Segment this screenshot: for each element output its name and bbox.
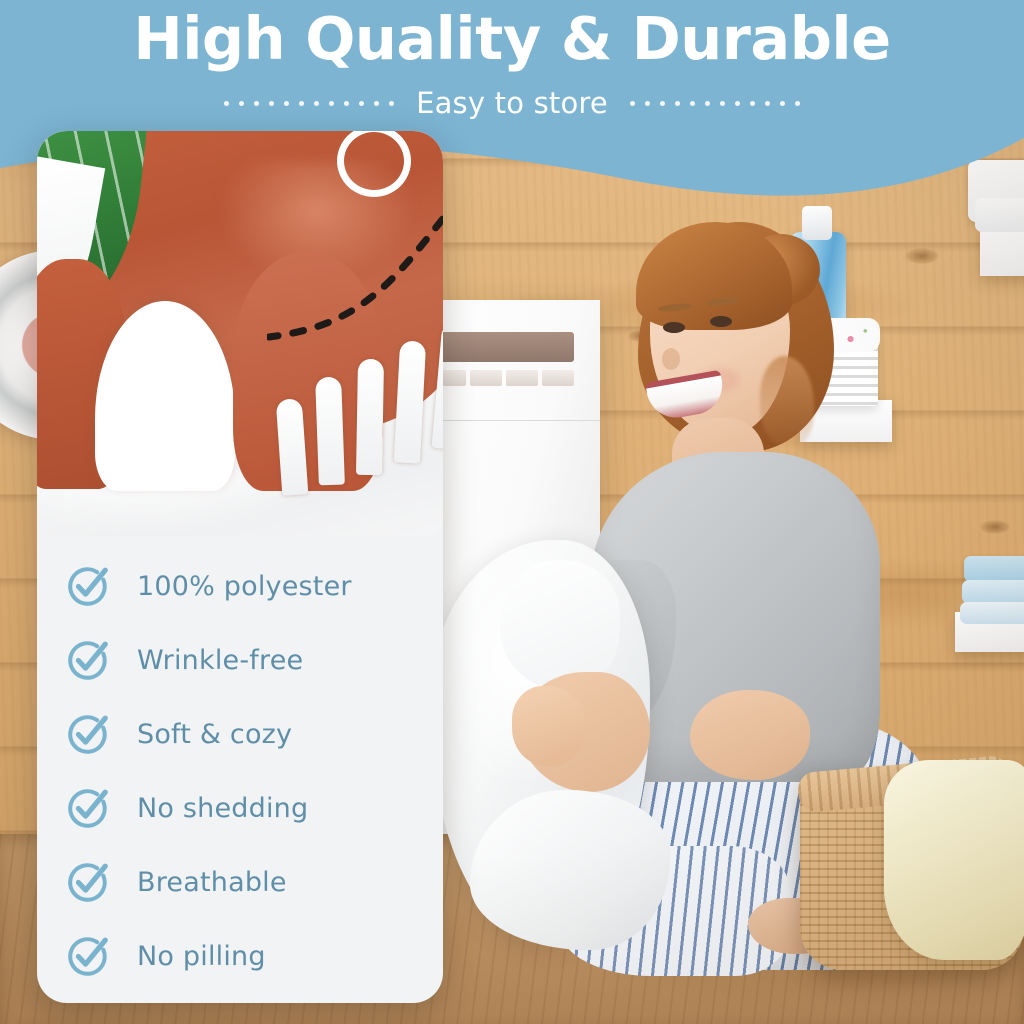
washer-button: [506, 370, 538, 386]
rule-dot: [329, 101, 334, 106]
check-circle-icon: [65, 933, 111, 979]
rule-dot: [795, 101, 800, 106]
rule-dot: [224, 101, 229, 106]
check-circle-icon: [65, 637, 111, 683]
page-subtitle: Easy to store: [416, 86, 608, 120]
feature-item[interactable]: Breathable: [37, 845, 443, 919]
feature-item[interactable]: Wrinkle-free: [37, 623, 443, 697]
feature-label: Soft & cozy: [137, 719, 292, 750]
rule-dot: [284, 101, 289, 106]
infographic-canvas: High Quality & Durable Easy to store: [0, 0, 1024, 1024]
feature-card: 100% polyester Wrinkle-free Soft & cozy: [37, 131, 443, 1003]
subtitle-row: Easy to store: [0, 86, 1024, 120]
rule-dot: [389, 101, 394, 106]
washer-button: [470, 370, 502, 386]
check-circle-icon: [65, 711, 111, 757]
washer-seam: [420, 420, 600, 421]
feature-label: Breathable: [137, 867, 287, 898]
rule-dot: [735, 101, 740, 106]
feature-label: 100% polyester: [137, 571, 352, 602]
blue-towel-stack: [962, 580, 1024, 604]
rule-dot: [269, 101, 274, 106]
rule-dot: [239, 101, 244, 106]
detergent-cap: [802, 206, 832, 240]
fringe-strip: [276, 398, 309, 496]
woman-eye: [663, 322, 685, 333]
product-closeup-photo: [37, 131, 443, 536]
wood-knot: [980, 520, 1010, 534]
blue-towel-stack: [960, 602, 1024, 624]
feature-list: 100% polyester Wrinkle-free Soft & cozy: [37, 549, 443, 993]
blue-towel-stack: [964, 556, 1024, 582]
dotted-rule-right: [630, 101, 800, 106]
woman-nose: [662, 348, 680, 370]
wood-knot: [905, 248, 939, 264]
fringe-strip: [356, 359, 384, 475]
cream-towel: [884, 760, 1024, 960]
rule-dot: [780, 101, 785, 106]
page-title: High Quality & Durable: [0, 8, 1024, 70]
check-circle-icon: [65, 859, 111, 905]
rule-dot: [314, 101, 319, 106]
feature-label: No pilling: [137, 941, 266, 972]
dotted-rule-left: [224, 101, 394, 106]
woman-eye: [710, 316, 732, 327]
washer-display-panel: [434, 332, 574, 362]
feature-label: Wrinkle-free: [137, 645, 303, 676]
rule-dot: [374, 101, 379, 106]
rule-dot: [765, 101, 770, 106]
fringe-strip: [394, 340, 426, 463]
woman-arm: [690, 690, 810, 780]
check-circle-icon: [65, 563, 111, 609]
woman-hand: [512, 686, 586, 766]
feature-item[interactable]: Soft & cozy: [37, 697, 443, 771]
check-circle-icon: [65, 785, 111, 831]
white-blanket-fold: [500, 560, 620, 690]
rule-dot: [705, 101, 710, 106]
rule-dot: [690, 101, 695, 106]
feature-item[interactable]: No shedding: [37, 771, 443, 845]
white-blanket-pile: [470, 790, 670, 950]
washer-button-row: [434, 370, 574, 386]
rule-dot: [630, 101, 635, 106]
cut-fringe-strips: [277, 349, 443, 489]
rule-dot: [344, 101, 349, 106]
feature-label: No shedding: [137, 793, 308, 824]
feature-item[interactable]: No pilling: [37, 919, 443, 993]
rule-dot: [750, 101, 755, 106]
feature-item[interactable]: 100% polyester: [37, 549, 443, 623]
rule-dot: [299, 101, 304, 106]
rule-dot: [660, 101, 665, 106]
fringe-strip: [315, 377, 345, 486]
washer-button: [542, 370, 574, 386]
rule-dot: [359, 101, 364, 106]
rule-dot: [675, 101, 680, 106]
rule-dot: [254, 101, 259, 106]
rule-dot: [645, 101, 650, 106]
rule-dot: [720, 101, 725, 106]
